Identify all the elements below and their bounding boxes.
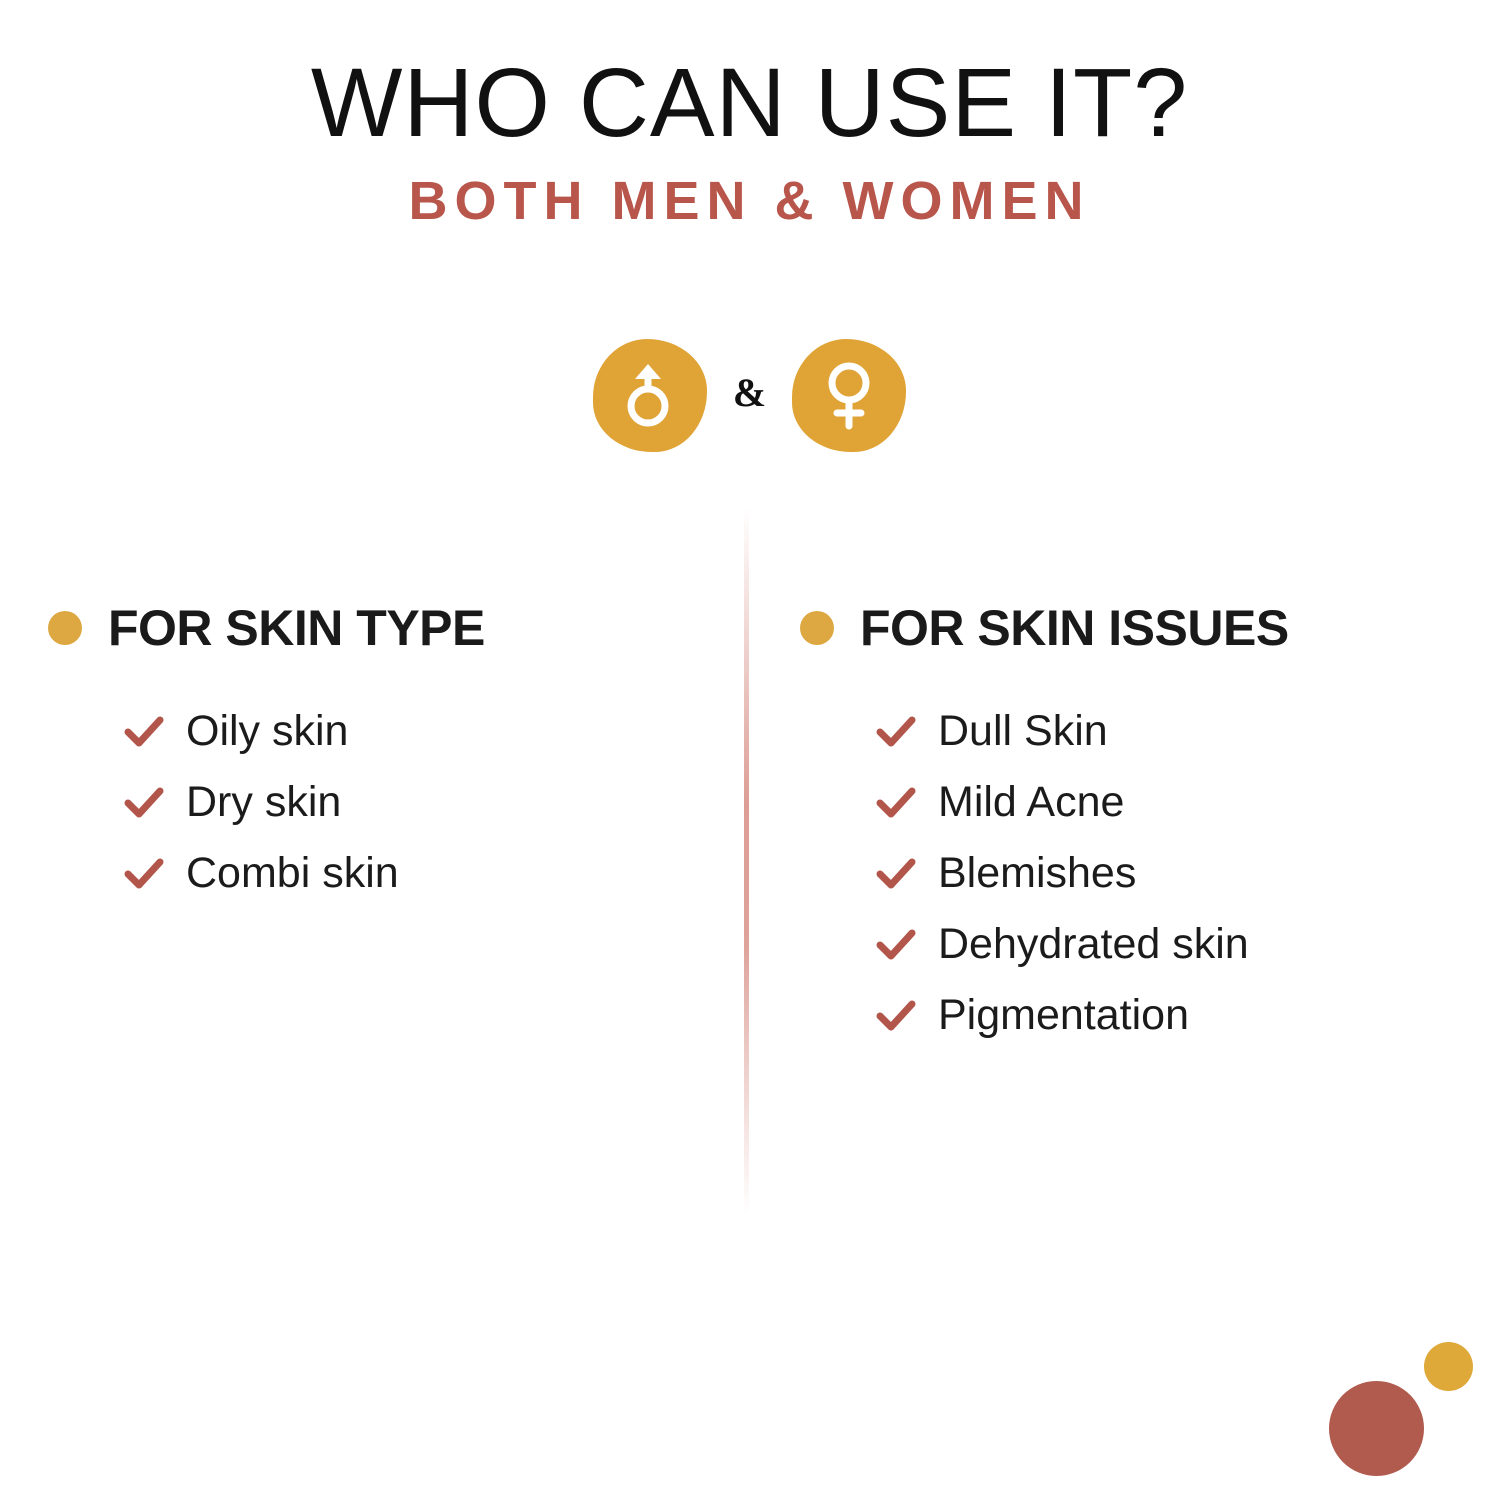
ampersand-separator: & (733, 373, 766, 417)
list-item-label: Combi skin (186, 852, 399, 895)
check-icon (876, 928, 916, 962)
column-heading-skin-type: FOR SKIN TYPE (48, 596, 688, 660)
female-gender-symbol-icon (820, 358, 878, 432)
list-item: Dry skin (48, 767, 688, 838)
list-item: Combi skin (48, 838, 688, 909)
list-item: Oily skin (48, 696, 688, 767)
gold-circle-decoration (1424, 1342, 1473, 1391)
column-heading-label: FOR SKIN TYPE (108, 603, 485, 653)
list-item: Dehydrated skin (800, 909, 1460, 980)
check-icon (124, 857, 164, 891)
skin-type-list: Oily skin Dry skin Combi skin (48, 696, 688, 909)
column-skin-issues: FOR SKIN ISSUES Dull Skin Mild Acne Blem… (800, 596, 1460, 1051)
header-block: WHO CAN USE IT? BOTH MEN & WOMEN (0, 52, 1499, 231)
male-icon-badge (593, 339, 707, 452)
gold-dot-icon (800, 611, 834, 645)
column-heading-skin-issues: FOR SKIN ISSUES (800, 596, 1460, 660)
check-icon (876, 786, 916, 820)
list-item-label: Dehydrated skin (938, 923, 1249, 966)
list-item: Mild Acne (800, 767, 1460, 838)
check-icon (124, 715, 164, 749)
list-item: Pigmentation (800, 980, 1460, 1051)
list-item-label: Blemishes (938, 852, 1136, 895)
terracotta-circle-decoration (1329, 1381, 1424, 1476)
list-item-label: Oily skin (186, 710, 348, 753)
list-item-label: Mild Acne (938, 781, 1124, 824)
female-icon-badge (792, 339, 906, 452)
check-icon (124, 786, 164, 820)
check-icon (876, 715, 916, 749)
column-heading-label: FOR SKIN ISSUES (860, 603, 1289, 653)
male-gender-symbol-icon (619, 360, 681, 430)
skin-issues-list: Dull Skin Mild Acne Blemishes Dehydrated… (800, 696, 1460, 1051)
infographic-page: WHO CAN USE IT? BOTH MEN & WOMEN & (0, 0, 1499, 1499)
vertical-divider (744, 508, 749, 1214)
list-item: Blemishes (800, 838, 1460, 909)
page-subtitle: BOTH MEN & WOMEN (0, 172, 1499, 231)
check-icon (876, 857, 916, 891)
list-item-label: Dull Skin (938, 710, 1108, 753)
gold-dot-icon (48, 611, 82, 645)
check-icon (876, 999, 916, 1033)
list-item-label: Dry skin (186, 781, 341, 824)
page-title: WHO CAN USE IT? (0, 52, 1499, 154)
list-item: Dull Skin (800, 696, 1460, 767)
list-item-label: Pigmentation (938, 994, 1189, 1037)
column-skin-type: FOR SKIN TYPE Oily skin Dry skin Combi s… (48, 596, 688, 909)
gender-icons-row: & (0, 330, 1499, 460)
